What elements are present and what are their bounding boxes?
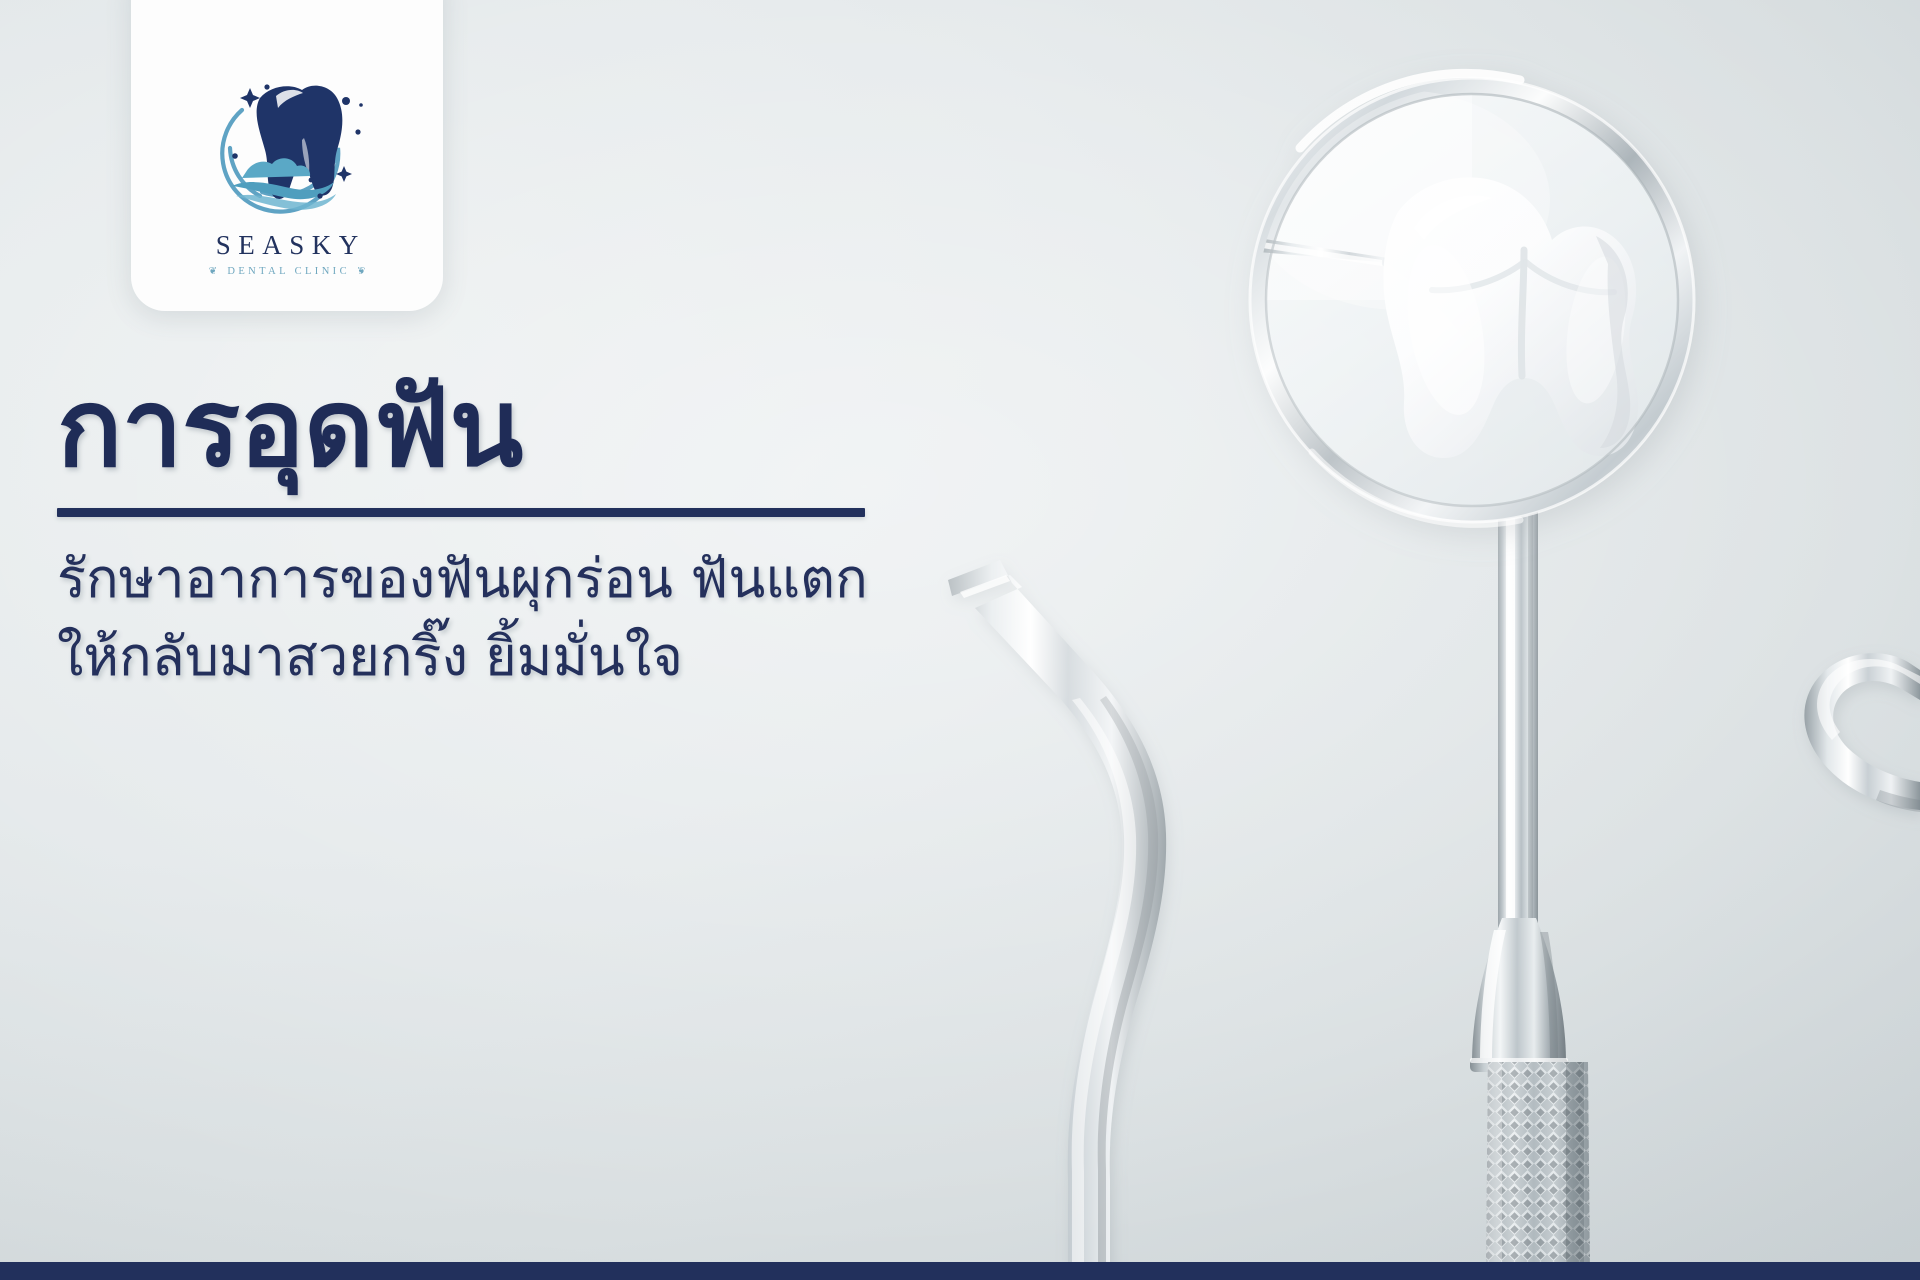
text-block: การอุดฟัน รักษาอาการของฟันผุกร่อน ฟันแตก… <box>57 372 1057 695</box>
tooth-wave-circle-logo <box>198 74 376 226</box>
bottom-accent-bar <box>0 1262 1920 1280</box>
mirror-collar <box>1470 918 1568 1072</box>
brand-tagline-row: ❦ DENTAL CLINIC ❦ <box>209 266 366 277</box>
brand-tagline: DENTAL CLINIC <box>224 266 350 277</box>
brand-name: SEASKY <box>208 232 366 259</box>
mirror-handle <box>1440 495 1596 1078</box>
leaf-ornament-right: ❦ <box>357 267 365 277</box>
molar-tooth <box>1383 177 1638 458</box>
title-divider <box>57 508 865 517</box>
subtitle-line-2: ให้กลับมาสวยกริ๊ง ยิ้มมั่นใจ <box>57 619 1057 695</box>
right-edge-instrument <box>1804 653 1920 812</box>
subtitle-line-1: รักษาอาการของฟันผุกร่อน ฟันแตก <box>57 541 1057 617</box>
dental-mirror-head <box>1250 73 1694 524</box>
brand-logo-card[interactable]: SEASKY ❦ DENTAL CLINIC ❦ <box>131 0 443 311</box>
leaf-ornament-left: ❦ <box>209 267 217 277</box>
banner-canvas: SEASKY ❦ DENTAL CLINIC ❦ การอุดฟัน รักษา… <box>0 0 1920 1280</box>
page-title: การอุดฟัน <box>57 372 1057 486</box>
mirror-knurled-grip <box>1480 1062 1592 1280</box>
